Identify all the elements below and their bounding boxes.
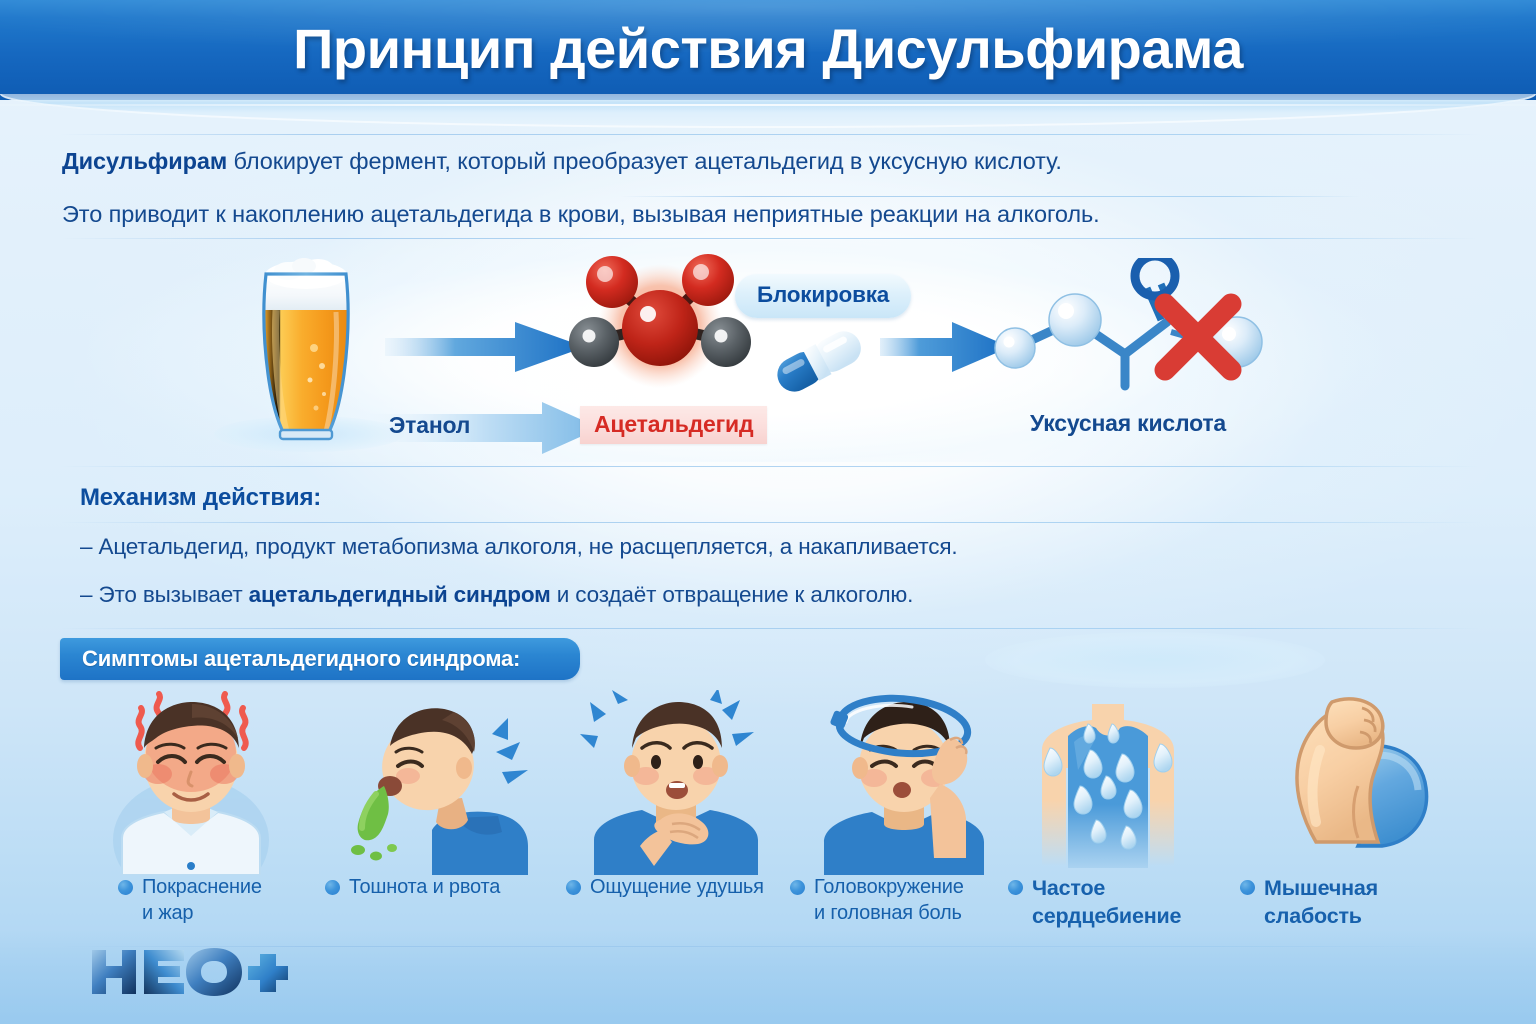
symptom-label-2: Тошнота и рвота (325, 874, 535, 900)
block-badge: Блокировка (735, 274, 911, 318)
mechanism-heading: Механизм действия: (80, 484, 321, 512)
bullet-dot-icon (566, 880, 581, 895)
symptom-figure-2 (336, 690, 536, 875)
page-header: Принцип действия Дисульфирама (0, 0, 1536, 100)
mechanism-rule (60, 522, 1480, 523)
symptom-label-4-text: Головокружение и головная боль (814, 874, 964, 927)
symptom-label-1: Покраснение и жар (118, 874, 298, 927)
bullet-dot-icon (1008, 880, 1023, 895)
mechanism-bottom-rule (60, 628, 1480, 629)
intro-top-rule (60, 134, 1480, 135)
ethanol-label: Этанол (389, 412, 470, 439)
intro-line-1: Дисульфирам блокирует фермент, который п… (62, 146, 1472, 177)
intro-line-1-rest: блокирует фермент, который преобразует а… (227, 148, 1062, 174)
mechanism-bullet-1: – Ацетальдегид, продукт метабопизма алко… (80, 534, 957, 560)
symptom-figure-3 (576, 690, 776, 875)
symptom-figure-4 (804, 690, 1004, 875)
beer-glass-icon (252, 248, 360, 444)
acetaldehyde-molecule-icon (560, 248, 760, 398)
symptom-figure-1 (96, 690, 286, 875)
process-bottom-rule (60, 466, 1480, 467)
symptom-label-3-text: Ощущение удушья (590, 874, 764, 900)
choking-person-icon (576, 690, 776, 875)
page-title: Принцип действия Дисульфирама (0, 16, 1536, 81)
intro-drug-name: Дисульфирам (62, 148, 227, 174)
symptom-label-2-text: Тошнота и рвота (349, 874, 500, 900)
bullet-dot-icon (1240, 880, 1255, 895)
symptoms-heading: Симптомы ацетальдегидного синдрома: (82, 646, 520, 672)
symptom-label-4: Головокружение и головная боль (790, 874, 1000, 927)
acetic-acid-molecule-icon (985, 258, 1285, 400)
dizzy-person-icon (804, 690, 1004, 875)
pill-capsule-icon (770, 330, 870, 392)
mechanism-bullet-2: – Это вызывает ацетальдегидный синдром и… (80, 582, 913, 608)
symptom-figure-5 (1008, 690, 1208, 875)
sweating-torso-icon (1008, 690, 1208, 875)
mechanism-bullet-2-pre: – Это вызывает (80, 582, 249, 607)
symptom-label-6-text: Мышечная слабость (1264, 874, 1378, 931)
flushed-face-icon (96, 690, 286, 875)
acetaldehyde-label: Ацетальдегид (580, 406, 767, 444)
symptom-label-5: Частое сердцебиение (1008, 874, 1218, 931)
mechanism-bullet-2-bold: ацетальдегидный синдром (249, 582, 551, 607)
symptom-label-3: Ощущение удушья (566, 874, 786, 900)
intro-mid-rule (620, 196, 1360, 197)
symptom-figure-6 (1240, 690, 1440, 875)
acetic-acid-puddle (985, 632, 1325, 688)
symptoms-heading-banner: Симптомы ацетальдегидного синдрома: (60, 638, 580, 680)
intro-paragraphs: Дисульфирам блокирует фермент, который п… (62, 146, 1472, 251)
infographic-page: Принцип действия Дисульфирама Дисульфира… (0, 0, 1536, 1024)
bullet-dot-icon (790, 880, 805, 895)
mechanism-bullet-2-post: и создаёт отвращение к алкоголю. (551, 582, 914, 607)
arrow-ethanol-to-acetaldehyde (385, 318, 585, 376)
brand-logo (88, 944, 288, 1000)
symptom-label-6: Мышечная слабость (1240, 874, 1420, 931)
header-highlight-line (0, 104, 1536, 106)
bullet-dot-icon (118, 880, 133, 895)
flexed-arm-icon (1240, 690, 1440, 875)
symptom-label-1-text: Покраснение и жар (142, 874, 262, 927)
symptom-label-5-text: Частое сердцебиение (1032, 874, 1181, 931)
mechanism-section: Механизм действия: – Ацетальдегид, проду… (0, 470, 1536, 630)
intro-line-2: Это приводит к накоплению ацетальдегида … (62, 199, 1472, 230)
acetic-acid-label: Уксусная кислота (1030, 410, 1226, 437)
vomiting-person-icon (336, 690, 536, 875)
intro-bottom-rule (60, 238, 1480, 239)
header-wave-divider (0, 94, 1536, 128)
symptom-illustrations (0, 690, 1536, 875)
bullet-dot-icon (325, 880, 340, 895)
process-diagram: Этанол (0, 240, 1536, 462)
